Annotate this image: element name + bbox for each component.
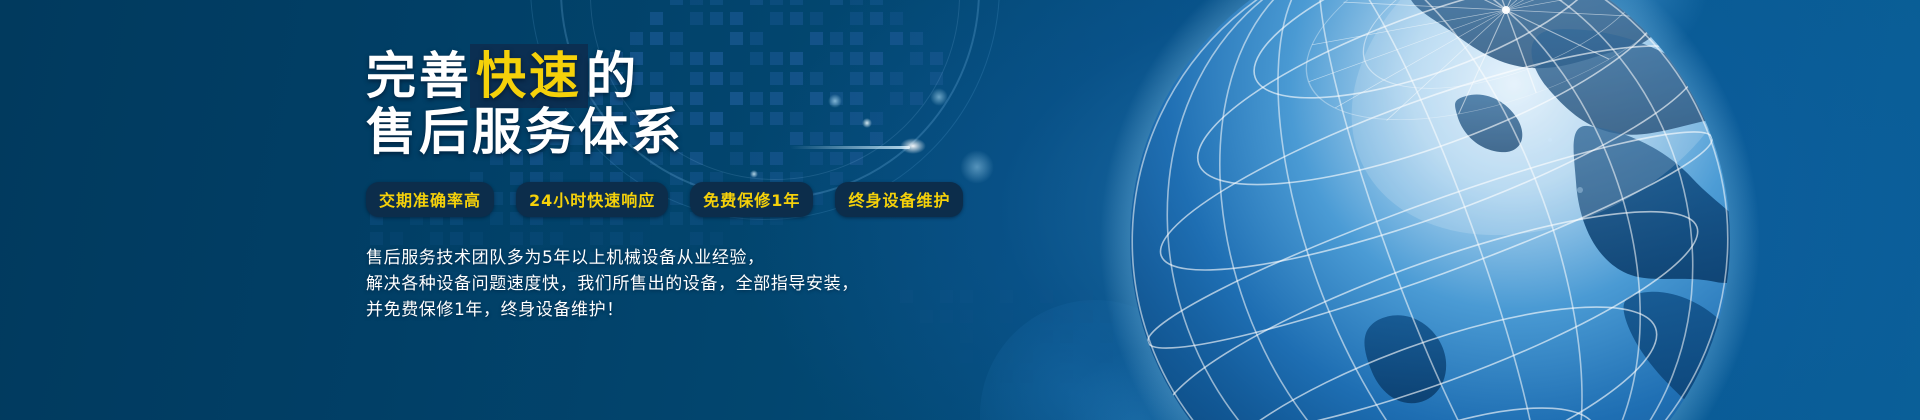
badge-list: 交期准确率高 24小时快速响应 免费保修1年 终身设备维护 (366, 182, 1006, 217)
mosaic-square (710, 12, 723, 25)
mosaic-square (630, 32, 643, 45)
mosaic-square (690, 0, 703, 5)
mosaic-square (890, 32, 903, 45)
mosaic-square (960, 350, 973, 363)
mosaic-square (1100, 350, 1113, 363)
headline-line-1: 完善快速的 (366, 48, 1006, 104)
mosaic-square (1000, 350, 1013, 363)
background-blob (1060, 350, 1220, 420)
mosaic-square (830, 32, 843, 45)
mosaic-square (870, 12, 883, 25)
background-blob (980, 300, 1210, 420)
mosaic-square (770, 12, 783, 25)
headline-suffix: 的 (586, 47, 639, 105)
description-line-1: 售后服务技术团队多为5年以上机械设备从业经验， (366, 245, 1006, 271)
headline-line-2: 售后服务体系 (366, 104, 1006, 160)
badge-free-warranty[interactable]: 免费保修1年 (690, 182, 813, 217)
mosaic-square (830, 0, 843, 5)
badge-lifetime-service[interactable]: 终身设备维护 (835, 182, 963, 217)
mosaic-square (1060, 350, 1073, 363)
headline-prefix: 完善 (366, 47, 472, 105)
headline: 完善快速的 售后服务体系 (366, 48, 1006, 160)
mosaic-square (870, 0, 883, 5)
mosaic-square (890, 12, 903, 25)
mosaic-square (750, 0, 763, 5)
mosaic-square (1060, 330, 1073, 343)
mosaic-square (710, 0, 723, 5)
banner-content: 完善快速的 售后服务体系 交期准确率高 24小时快速响应 免费保修1年 终身设备… (366, 48, 1006, 323)
mosaic-square (670, 32, 683, 45)
mosaic-square (770, 0, 783, 5)
mosaic-square (1060, 370, 1073, 383)
mosaic-square (1000, 370, 1013, 383)
mosaic-square (960, 330, 973, 343)
mosaic-square (650, 12, 663, 25)
mosaic-square (1060, 310, 1073, 323)
mosaic-square (670, 0, 683, 5)
mosaic-square (1100, 330, 1113, 343)
badge-24h-response[interactable]: 24小时快速响应 (516, 182, 668, 217)
mosaic-square (1040, 310, 1053, 323)
mosaic-square (790, 0, 803, 5)
mosaic-square (1020, 350, 1033, 363)
globe-icon (1080, 0, 1780, 420)
mosaic-square (730, 12, 743, 25)
mosaic-square (730, 32, 743, 45)
mosaic-square (910, 32, 923, 45)
mosaic-square (1040, 330, 1053, 343)
background-blob (1560, 0, 1710, 60)
mosaic-square (980, 370, 993, 383)
description-paragraph: 售后服务技术团队多为5年以上机械设备从业经验， 解决各种设备问题速度快，我们所售… (366, 245, 1006, 323)
mosaic-square (810, 32, 823, 45)
mosaic-square (850, 0, 863, 5)
badge-delivery-accuracy[interactable]: 交期准确率高 (366, 182, 494, 217)
mosaic-square (810, 12, 823, 25)
mosaic-square (1020, 370, 1033, 383)
mosaic-square (1100, 310, 1113, 323)
description-line-3: 并免费保修1年，终身设备维护！ (366, 297, 1006, 323)
mosaic-square (1000, 330, 1013, 343)
mosaic-square (850, 12, 863, 25)
mosaic-square (690, 12, 703, 25)
mosaic-square (750, 32, 763, 45)
mosaic-square (1080, 310, 1093, 323)
mosaic-square (850, 32, 863, 45)
service-banner: 完善快速的 售后服务体系 交期准确率高 24小时快速响应 免费保修1年 终身设备… (0, 0, 1920, 420)
mosaic-square (1040, 290, 1053, 303)
mosaic-square (790, 12, 803, 25)
mosaic-square (1080, 290, 1093, 303)
headline-highlight: 快速 (472, 46, 586, 106)
description-line-2: 解决各种设备问题速度快，我们所售出的设备，全部指导安装， (366, 271, 1006, 297)
mosaic-square (650, 32, 663, 45)
background-blob (1340, 0, 1580, 120)
